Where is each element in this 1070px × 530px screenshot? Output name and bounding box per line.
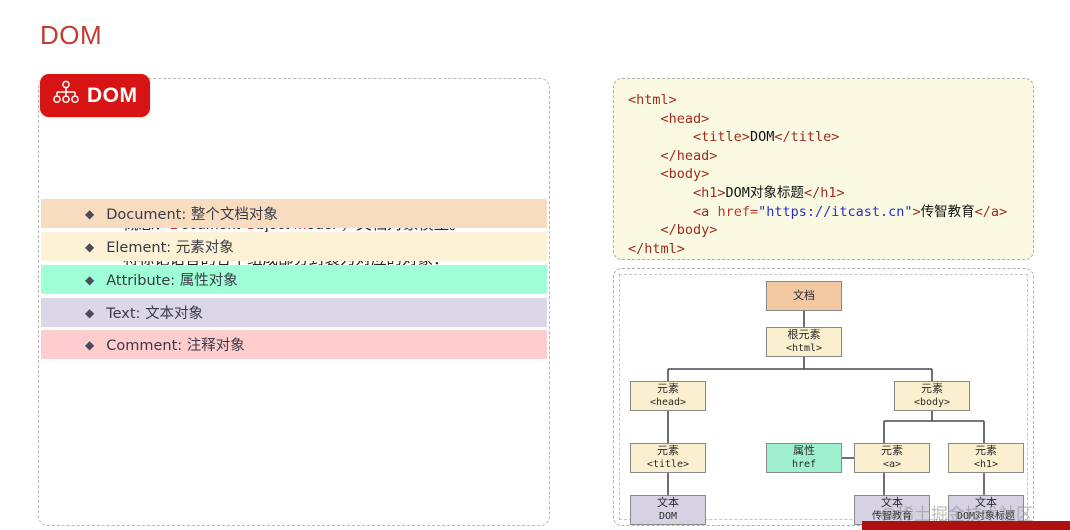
object-row-term: Comment: [106, 338, 182, 354]
object-row-term: Attribute: [106, 273, 175, 289]
object-row-desc: 整个文档对象 [191, 207, 278, 223]
tree-node-title: 属性 [793, 445, 815, 458]
tree-node-title: 文档 [793, 290, 815, 303]
tree-node-sub: href [792, 459, 816, 471]
diamond-bullet-icon: ◆ [85, 307, 94, 319]
diamond-bullet-icon: ◆ [85, 241, 94, 253]
tree-node-a: 元素 <a> [854, 443, 930, 473]
object-row-desc: 元素对象 [176, 240, 234, 256]
object-row-desc: 注释对象 [187, 338, 245, 354]
code-h1-text: DOM对象标题 [726, 185, 804, 201]
object-row-term: Element: [106, 240, 171, 256]
code-link-text: 传智教育 [921, 204, 975, 220]
diamond-bullet-icon: ◆ [85, 208, 94, 220]
object-row-desc: 文本对象 [145, 306, 203, 322]
object-row-term: Text: [106, 306, 140, 322]
object-row-desc: 属性对象 [180, 273, 238, 289]
html-code-block: <html> <head> <title>DOM</title> </head>… [613, 78, 1034, 260]
tree-node-sub: <title> [647, 459, 689, 471]
tree-node-text-dom: 文本 DOM [630, 495, 706, 525]
object-row-term: Document: [106, 207, 186, 223]
code-listing: <html> <head> <title>DOM</title> </head>… [628, 91, 1033, 258]
dom-badge-label: DOM [87, 84, 138, 108]
dom-tree-diagram: 文档 根元素 <html> 元素 <head> 元素 <body> 元素 <ti… [613, 268, 1034, 526]
tree-node-body: 元素 <body> [894, 381, 970, 411]
tree-node-html: 根元素 <html> [766, 327, 842, 357]
object-row-label: Attribute: 属性对象 [106, 269, 238, 290]
code-title-text: DOM [750, 129, 774, 145]
object-row-label: Text: 文本对象 [106, 302, 203, 323]
object-row-label: Element: 元素对象 [106, 236, 234, 257]
object-row-element: ◆ Element: 元素对象 [41, 232, 547, 261]
tree-node-sub: <h1> [974, 459, 998, 471]
tree-node-document: 文档 [766, 281, 842, 311]
tree-node-sub: <html> [786, 343, 822, 355]
tree-node-title: 元素 [881, 445, 903, 458]
object-row-text: ◆ Text: 文本对象 [41, 298, 547, 327]
object-row-label: Document: 整个文档对象 [106, 203, 278, 224]
object-row-label: Comment: 注释对象 [106, 334, 245, 355]
tree-node-head: 元素 <head> [630, 381, 706, 411]
diamond-bullet-icon: ◆ [85, 339, 94, 351]
hierarchy-tree-icon [53, 80, 79, 111]
tree-node-sub: <body> [914, 397, 950, 409]
object-row-attribute: ◆ Attribute: 属性对象 [41, 265, 547, 294]
tree-node-href-attr: 属性 href [766, 443, 842, 473]
diamond-bullet-icon: ◆ [85, 274, 94, 286]
code-link-url: https://itcast.cn [766, 204, 904, 220]
object-row-comment: ◆ Comment: 注释对象 [41, 330, 547, 359]
tree-node-sub: <head> [650, 397, 686, 409]
tree-node-title: 文本 [657, 497, 679, 510]
page-title: DOM [40, 20, 102, 51]
tree-node-h1: 元素 <h1> [948, 443, 1024, 473]
tree-node-sub: DOM [659, 511, 677, 523]
tree-node-title: 元素 [975, 445, 997, 458]
tree-node-title-el: 元素 <title> [630, 443, 706, 473]
tree-node-sub: <a> [883, 459, 901, 471]
tree-node-title: 文本 [881, 497, 903, 510]
dom-badge: DOM [40, 74, 150, 117]
tree-node-title: 元素 [921, 383, 943, 396]
tree-node-title: 元素 [657, 383, 679, 396]
tree-node-title: 元素 [657, 445, 679, 458]
object-row-document: ◆ Document: 整个文档对象 [41, 199, 547, 228]
tree-node-title: 根元素 [788, 329, 821, 342]
bottom-red-bar [862, 521, 1070, 530]
tree-node-title: 文本 [975, 497, 997, 510]
